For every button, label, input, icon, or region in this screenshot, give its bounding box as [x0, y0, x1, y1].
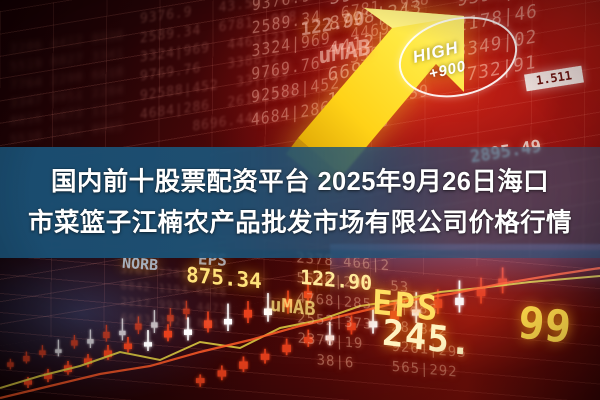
ticker-big-value: 99: [515, 297, 573, 353]
headline-line-2: 市菜篮子江楠农产品批发市场有限公司价格行情: [28, 204, 572, 243]
ticker-grid-far: 2286 4412 9938 5519 8827 3341 7764 2290 …: [10, 26, 124, 149]
headline-text-group: 国内前十股票配资平台 2025年9月26日海口 市菜篮子江楠农产品批发市场有限公…: [0, 147, 600, 258]
stock-banner: 2286 4412 9938 5519 8827 3341 7764 2290 …: [0, 0, 600, 400]
ticker-symbol-umab: uMAB: [270, 294, 316, 321]
headline-line-1: 国内前十股票配资平台 2025年9月26日海口: [51, 163, 549, 202]
